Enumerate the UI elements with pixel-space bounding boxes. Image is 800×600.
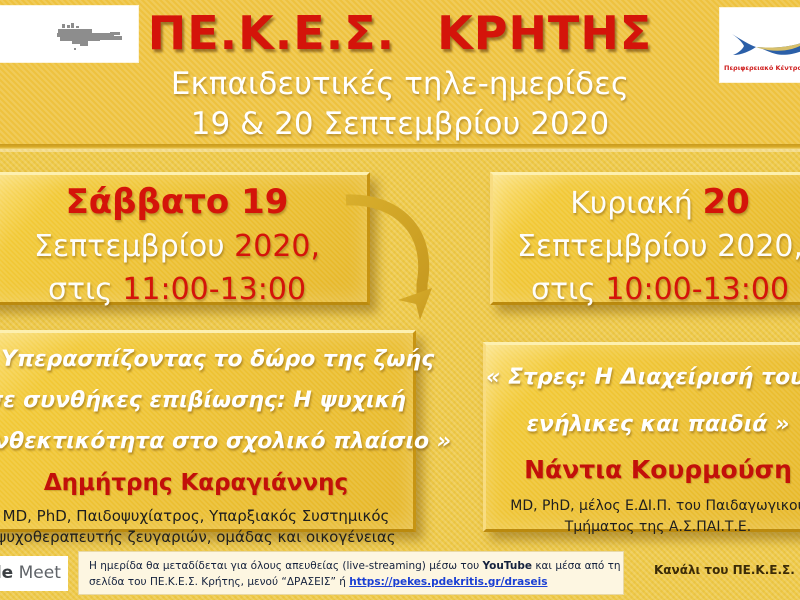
google-meet-logo-meet: Meet	[13, 563, 61, 583]
date-panel-sunday-line3: στις 10:00-13:00	[493, 268, 800, 311]
poster-canvas: ΣΗ Σ ΠΕ Περιφερει	[0, 0, 800, 600]
talk-sunday-credentials-line1: MD, PhD, μέλος Ε.ΔΙ.Π. του Παιδαγωγικού	[486, 496, 800, 517]
date-saturday-year: 2020,	[225, 229, 320, 264]
page-title: ΠΕ.Κ.Ε.Σ.ΚΡΗΤΗΣ	[0, 6, 800, 60]
talk-saturday-speaker: Δημήτρης Καραγιάννης	[0, 470, 413, 496]
youtube-label: YouTube	[483, 560, 532, 572]
talk-saturday-title-line3: ανθεκτικότητα στο σχολικό πλαίσιο »	[0, 415, 413, 456]
date-panel-sunday: Κυριακή 20 Σεπτεμβρίου 2020, στις 10:00-…	[490, 172, 800, 305]
channel-label: Κανάλι του ΠΕ.Κ.Ε.Σ. ΚΡ	[654, 563, 800, 577]
streaming-info-text-c: και μέσα από τη	[532, 560, 621, 572]
date-panel-sunday-line1: Κυριακή 20	[493, 175, 800, 225]
talk-sunday-credentials-line2: Τμήματος της Α.Σ.ΠΑΙ.Τ.Ε.	[486, 517, 800, 538]
talk-saturday-credentials-line2: ψυχοθεραπευτής ζευγαριών, ομάδας και οικ…	[0, 527, 413, 548]
header-divider-highlight	[0, 149, 800, 152]
page-subtitle: Εκπαιδευτικές τηλε-ημερίδες	[0, 66, 800, 102]
page-title-part1: ΠΕ.Κ.Ε.Σ.	[148, 6, 395, 60]
google-meet-logo-google: ogle	[0, 563, 13, 583]
talk-saturday-title-line2: σε συνθήκες επιβίωσης: Η ψυχική	[0, 374, 413, 415]
date-saturday-month: Σεπτεμβρίου	[34, 229, 225, 264]
talk-saturday-credentials-line1: MD, PhD, Παιδοψυχίατρος, Υπαρξιακός Συστ…	[0, 506, 413, 527]
google-meet-logo: ogle Meet	[0, 556, 68, 591]
date-saturday-time: 11:00-13:00	[113, 272, 306, 307]
date-saturday-at-label: στις	[48, 272, 113, 307]
date-panel-saturday-line1: Σάββατο 19	[0, 175, 367, 225]
date-sunday-day: 20	[702, 182, 749, 222]
talk-panel-sunday: « Στρες: Η Διαχείρισή του σε ενήλικες κα…	[483, 342, 800, 532]
date-panel-saturday-line2: Σεπτεμβρίου 2020,	[0, 225, 367, 268]
date-sunday-dayname: Κυριακή	[570, 186, 702, 221]
streaming-info-box: Η ημερίδα θα μεταδίδεται για όλους απευθ…	[78, 551, 624, 595]
date-sunday-at-label: στις	[531, 272, 605, 307]
talk-panel-saturday: « Υπερασπίζοντας το δώρο της ζωής σε συν…	[0, 330, 416, 532]
date-sunday-time: 10:00-13:00	[605, 272, 789, 307]
talk-saturday-title-line1: « Υπερασπίζοντας το δώρο της ζωής	[0, 333, 413, 374]
draseis-link[interactable]: https://pekes.pdekritis.gr/draseis	[349, 576, 547, 588]
streaming-info-text-a: Η ημερίδα θα μεταδίδεται για όλους απευθ…	[89, 560, 483, 572]
streaming-info-line1: Η ημερίδα θα μεταδίδεται για όλους απευθ…	[89, 558, 615, 574]
date-panel-saturday-line3: στις 11:00-13:00	[0, 268, 367, 311]
date-saturday-day: Σάββατο 19	[66, 182, 289, 222]
page-dates: 19 & 20 Σεπτεμβρίου 2020	[0, 106, 800, 142]
google-meet-logo-text: ogle Meet	[0, 563, 61, 583]
page-title-part2: ΚΡΗΤΗΣ	[437, 6, 652, 60]
date-panel-sunday-line2: Σεπτεμβρίου 2020,	[493, 225, 800, 268]
talk-sunday-title-line2: ενήλικες και παιδιά »	[486, 392, 800, 439]
streaming-info-text-d: σελίδα του ΠΕ.Κ.Ε.Σ. Κρήτης, μενού “ΔΡΑΣ…	[89, 576, 349, 588]
talk-sunday-speaker: Νάντια Κουρμούση	[486, 455, 800, 484]
streaming-info-line2: σελίδα του ΠΕ.Κ.Ε.Σ. Κρήτης, μενού “ΔΡΑΣ…	[89, 574, 615, 590]
date-sunday-month-year: Σεπτεμβρίου 2020,	[517, 229, 800, 264]
date-panel-saturday: Σάββατο 19 Σεπτεμβρίου 2020, στις 11:00-…	[0, 172, 370, 305]
talk-sunday-title-line1: « Στρες: Η Διαχείρισή του σε	[486, 345, 800, 392]
